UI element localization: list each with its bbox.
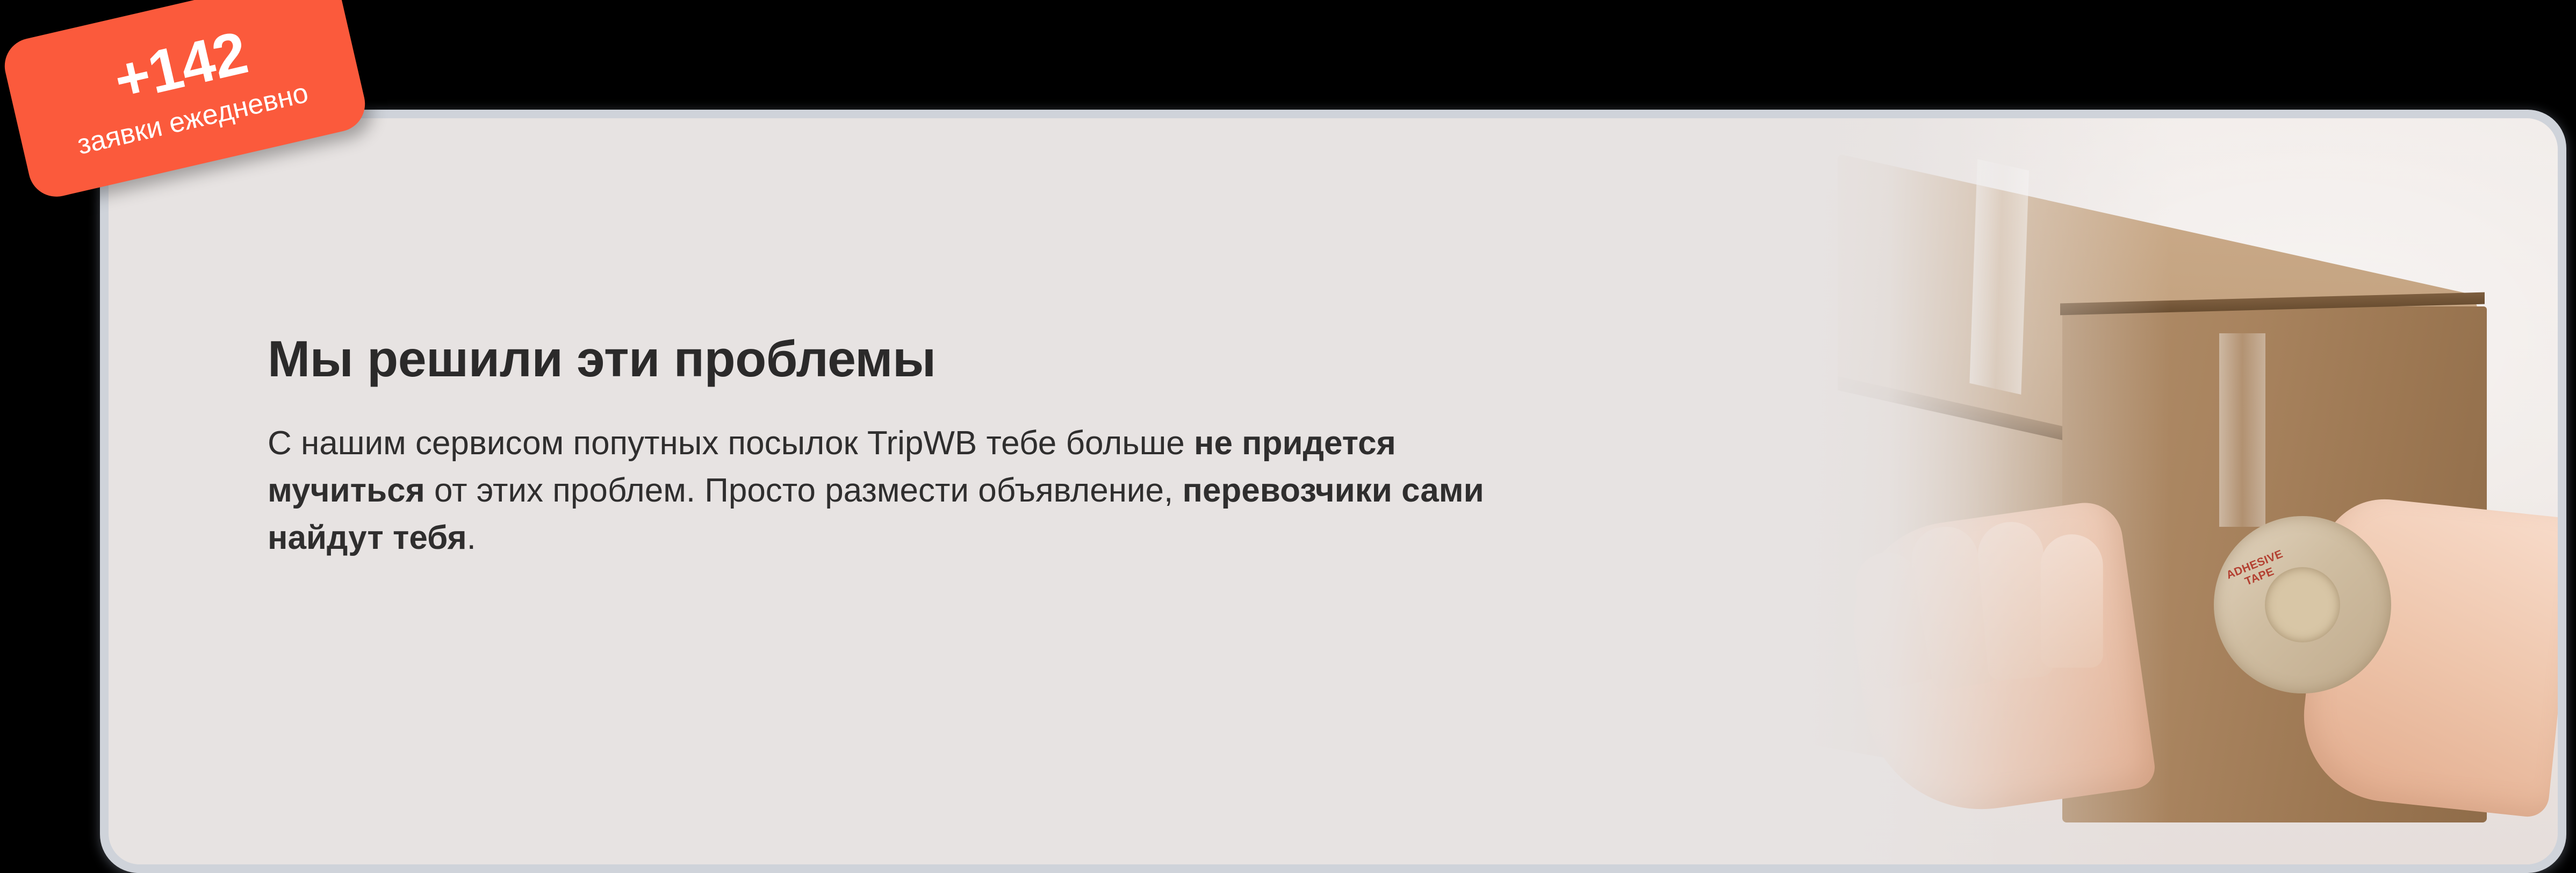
description-part-2: от этих проблем. Просто размести объявле… — [425, 472, 1183, 509]
description-part-3: . — [467, 519, 476, 556]
card-content: Мы решили эти проблемы С нашим сервисом … — [268, 332, 1665, 562]
package-photo: ADHESIVE TAPE — [1676, 118, 2558, 864]
tape-strip-front — [2219, 333, 2265, 527]
description-part-1: С нашим сервисом попутных посылок TripWB… — [268, 425, 1194, 462]
finger — [2041, 534, 2103, 668]
card-description: С нашим сервисом попутных посылок TripWB… — [268, 420, 1546, 562]
photo-backdrop: ADHESIVE TAPE — [1676, 118, 2558, 864]
page-title: Мы решили эти проблемы — [268, 332, 1665, 387]
promo-card: ADHESIVE TAPE Мы решили эти проблемы С н… — [100, 110, 2566, 873]
tape-strip-lid — [1969, 159, 2029, 395]
promo-card-surface: ADHESIVE TAPE Мы решили эти проблемы С н… — [109, 118, 2558, 864]
screenshot-root: ADHESIVE TAPE Мы решили эти проблемы С н… — [0, 0, 2576, 853]
left-hand — [1840, 498, 2157, 824]
